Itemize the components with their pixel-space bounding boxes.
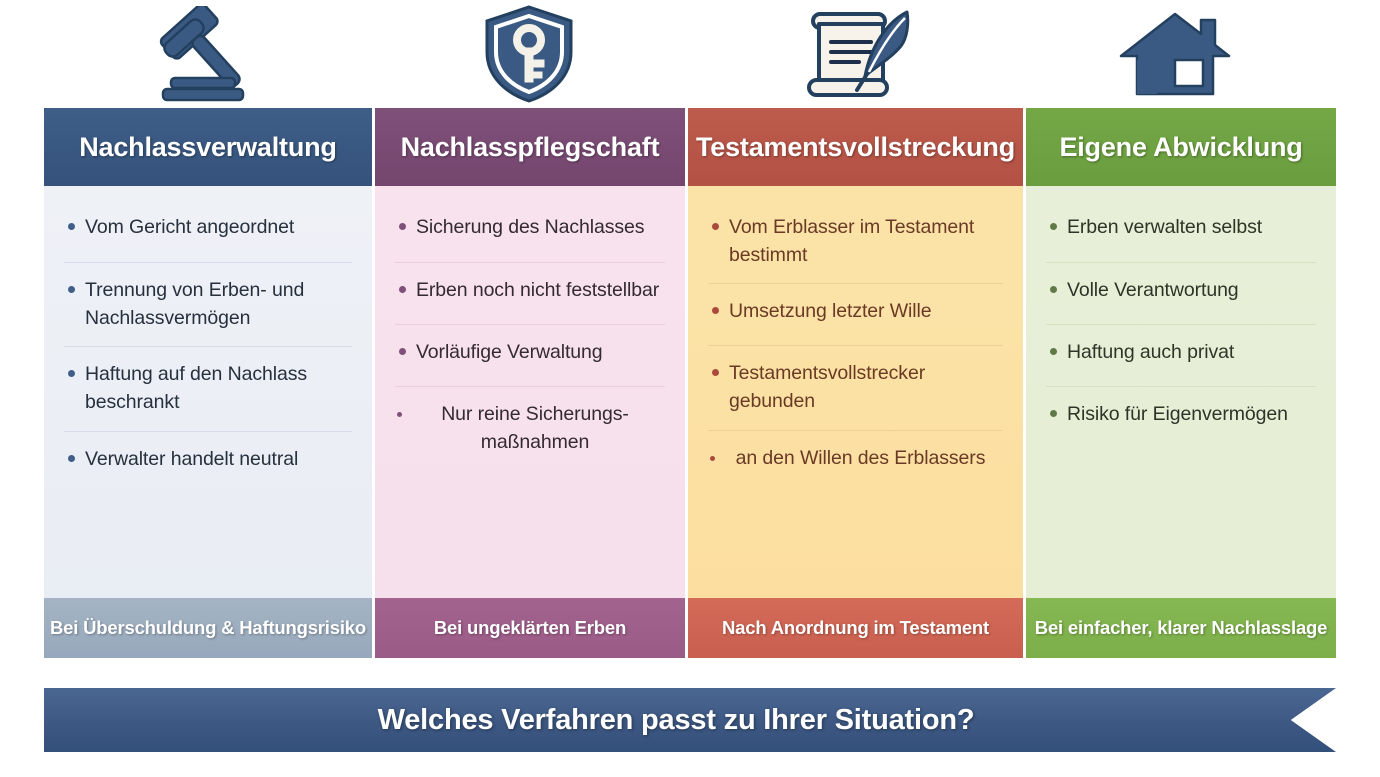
infographic-page: Nachlassverwaltung Vom Gericht angeordne… <box>0 0 1380 777</box>
list-item: Haftung auch privat <box>1046 324 1316 386</box>
column-footer-text-1: Bei Überschuldung & Haftungsrisiko <box>50 617 366 639</box>
bullet-dot-icon <box>399 286 406 293</box>
list-item-text: Verwalter handelt neutral <box>85 446 298 474</box>
list-item-text: Haftung auch privat <box>1067 339 1234 367</box>
column-nachlasspflegschaft: Nachlasspflegschaft Sicherung des Nachla… <box>375 108 685 658</box>
list-item: Trennung von Erben- und Nachlassvermögen <box>64 262 352 346</box>
list-item-text: Erben noch nicht feststellbar <box>416 277 659 305</box>
list-item-text: Trennung von Erben- und Nachlassvermögen <box>85 277 352 332</box>
bullet-dot-icon <box>710 456 715 461</box>
bullet-dot-icon <box>399 348 406 355</box>
column-body-3: Vom Erblasser im Testament bestimmt Umse… <box>688 186 1023 598</box>
list-item: Nur reine Sicherungs- maßnahmen <box>395 386 665 470</box>
list-item: Erben verwalten selbst <box>1046 200 1316 262</box>
list-item: Umsetzung letzter Wille <box>708 283 1003 345</box>
bullet-dot-icon <box>1050 348 1057 355</box>
column-title-3: Testamentsvollstreckung <box>696 132 1015 163</box>
list-item: Vorläufige Verwaltung <box>395 324 665 386</box>
column-header-4: Eigene Abwicklung <box>1026 108 1336 186</box>
bullet-dot-icon <box>68 455 75 462</box>
list-item: Haftung auf den Nachlass beschrankt <box>64 346 352 430</box>
column-nachlassverwaltung: Nachlassverwaltung Vom Gericht angeordne… <box>44 108 372 658</box>
list-item: Risiko für Eigenvermögen <box>1046 386 1316 448</box>
shield-key-icon <box>367 0 690 108</box>
list-item-text: Erben verwalten selbst <box>1067 214 1262 242</box>
bullet-dot-icon <box>68 370 75 377</box>
column-footer-text-2: Bei ungeklärten Erben <box>434 617 626 639</box>
list-item-text: Vom Erblasser im Testament bestimmt <box>729 214 1003 269</box>
column-footer-1: Bei Überschuldung & Haftungsrisiko <box>44 598 372 658</box>
list-item-text: Vorläufige Verwaltung <box>416 339 603 367</box>
list-item: Vom Erblasser im Testament bestimmt <box>708 200 1003 283</box>
bullet-dot-icon <box>1050 223 1057 230</box>
column-footer-4: Bei einfacher, klarer Nachlasslage <box>1026 598 1336 658</box>
list-item: Testamentsvollstrecker gebunden <box>708 345 1003 429</box>
list-item: an den Willen des Erblassers <box>708 430 1003 492</box>
bottom-banner: Welches Verfahren passt zu Ihrer Situati… <box>44 688 1336 752</box>
list-item-text: Volle Verantwortung <box>1067 277 1239 305</box>
column-header-2: Nachlasspflegschaft <box>375 108 685 186</box>
bullet-dot-icon <box>68 223 75 230</box>
list-item: Verwalter handelt neutral <box>64 431 352 493</box>
column-footer-text-3: Nach Anordnung im Testament <box>722 617 989 639</box>
column-header-1: Nachlassverwaltung <box>44 108 372 186</box>
column-title-2: Nachlasspflegschaft <box>401 132 660 163</box>
column-body-2: Sicherung des Nachlasses Erben noch nich… <box>375 186 685 598</box>
list-item-text: an den Willen des Erblassers <box>718 445 1003 473</box>
house-icon <box>1013 0 1336 108</box>
column-title-4: Eigene Abwicklung <box>1059 132 1302 163</box>
bullet-dot-icon <box>1050 286 1057 293</box>
column-body-1: Vom Gericht angeordnet Trennung von Erbe… <box>44 186 372 598</box>
bottom-banner-text: Welches Verfahren passt zu Ihrer Situati… <box>378 704 975 737</box>
list-item: Vom Gericht angeordnet <box>64 200 352 262</box>
list-item-text: Umsetzung letzter Wille <box>729 298 932 326</box>
bullet-dot-icon <box>399 223 406 230</box>
column-footer-text-4: Bei einfacher, klarer Nachlasslage <box>1035 617 1327 639</box>
comparison-columns: Nachlassverwaltung Vom Gericht angeordne… <box>44 108 1336 658</box>
column-footer-2: Bei ungeklärten Erben <box>375 598 685 658</box>
list-item-text: Testamentsvollstrecker gebunden <box>729 360 1003 415</box>
column-eigene-abwicklung: Eigene Abwicklung Erben verwalten selbst… <box>1026 108 1336 658</box>
column-header-3: Testamentsvollstreckung <box>688 108 1023 186</box>
icon-row <box>44 0 1336 108</box>
column-body-4: Erben verwalten selbst Volle Verantwortu… <box>1026 186 1336 598</box>
list-item: Sicherung des Nachlasses <box>395 200 665 262</box>
list-item-text: Risiko für Eigenvermögen <box>1067 401 1288 429</box>
bullet-dot-icon <box>712 307 719 314</box>
list-item-text: Haftung auf den Nachlass beschrankt <box>85 361 352 416</box>
bullet-dot-icon <box>68 286 75 293</box>
gavel-icon <box>44 0 367 108</box>
scroll-quill-icon <box>690 0 1013 108</box>
column-footer-3: Nach Anordnung im Testament <box>688 598 1023 658</box>
list-item-text: Vom Gericht angeordnet <box>85 214 294 242</box>
bullet-dot-icon <box>397 412 402 417</box>
bullet-dot-icon <box>1050 410 1057 417</box>
list-item-text: Nur reine Sicherungs- maßnahmen <box>405 401 665 456</box>
bullet-dot-icon <box>712 369 719 376</box>
list-item: Volle Verantwortung <box>1046 262 1316 324</box>
bullet-dot-icon <box>712 223 719 230</box>
column-testamentsvollstreckung: Testamentsvollstreckung Vom Erblasser im… <box>688 108 1023 658</box>
list-item: Erben noch nicht feststellbar <box>395 262 665 324</box>
column-title-1: Nachlassverwaltung <box>79 132 337 163</box>
list-item-text: Sicherung des Nachlasses <box>416 214 644 242</box>
